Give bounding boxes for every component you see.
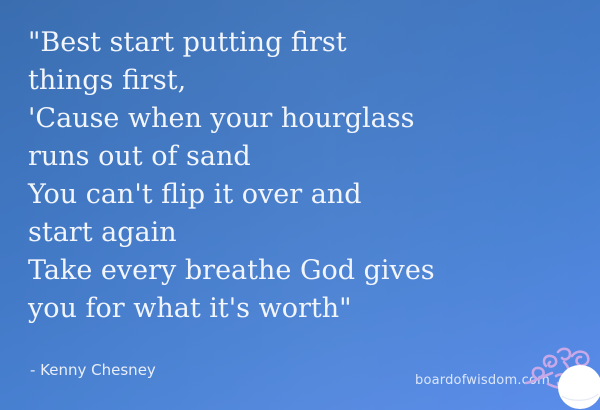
- quote-line: things first,: [28, 62, 568, 100]
- quote-line: you for what it's worth": [28, 290, 568, 328]
- quote-line: You can't flip it over and: [28, 176, 568, 214]
- quote-attribution: - Kenny Chesney: [30, 360, 156, 380]
- quote-line: runs out of sand: [28, 138, 568, 176]
- quote-line: "Best start putting first: [28, 24, 568, 62]
- quote-text-block: "Best start putting first things first, …: [28, 24, 568, 328]
- quote-image-canvas: "Best start putting first things first, …: [0, 0, 600, 410]
- quote-line: Take every breathe God gives: [28, 252, 568, 290]
- swirl-moon-logo-icon: [518, 340, 600, 410]
- quote-line: start again: [28, 214, 568, 252]
- quote-line: 'Cause when your hourglass: [28, 100, 568, 138]
- branding-block: boardofwisdom.com: [390, 346, 600, 410]
